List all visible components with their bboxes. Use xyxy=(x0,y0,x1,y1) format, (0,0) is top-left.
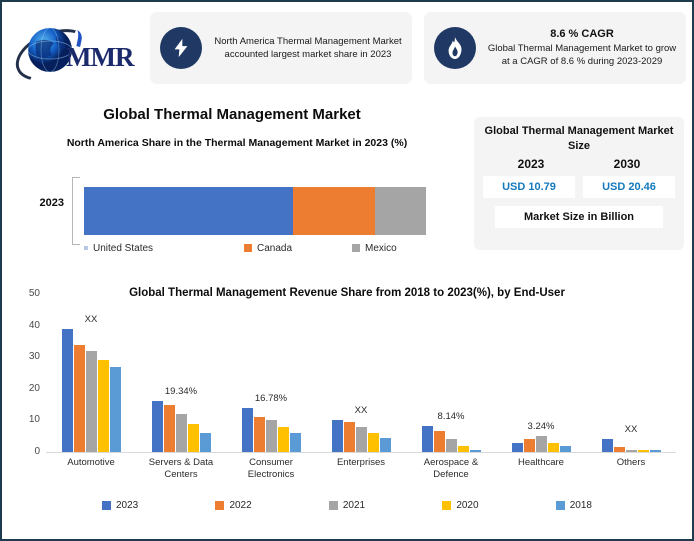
bar xyxy=(152,401,163,452)
chart-legend: 20232022202120202018 xyxy=(102,497,592,513)
gridline xyxy=(46,294,676,295)
legend-swatch xyxy=(215,501,224,510)
bar xyxy=(422,426,433,452)
bar-group: 8.14% xyxy=(406,294,496,452)
bar-annotation: XX xyxy=(586,424,676,435)
bar xyxy=(254,417,265,452)
brand-name: MMR xyxy=(66,42,133,73)
lightning-bolt-icon xyxy=(160,27,202,69)
legend-item: Mexico xyxy=(352,243,397,254)
bar-set xyxy=(316,294,406,452)
bar-set xyxy=(136,294,226,452)
stacked-axis xyxy=(72,177,80,245)
market-size-panel: Global Thermal Management Market Size 20… xyxy=(474,117,684,250)
legend-label: Mexico xyxy=(365,243,397,254)
bar xyxy=(524,439,535,452)
bar-set xyxy=(226,294,316,452)
stacked-bar xyxy=(84,187,426,235)
y-axis-tick: 50 xyxy=(4,288,40,299)
stacked-category-label: 2023 xyxy=(22,197,64,209)
market-size-title: Global Thermal Management Market Size xyxy=(483,124,675,154)
x-axis-label: Automotive xyxy=(46,457,136,487)
bar-set xyxy=(406,294,496,452)
market-size-unit: Market Size in Billion xyxy=(495,206,663,228)
legend-item: 2020 xyxy=(442,500,478,511)
legend-item: 2022 xyxy=(215,500,251,511)
bar xyxy=(512,443,523,452)
gridline xyxy=(46,326,676,327)
legend-item: Canada xyxy=(244,243,292,254)
bar xyxy=(356,427,367,452)
legend-swatch xyxy=(102,501,111,510)
bar xyxy=(98,360,109,452)
bar-groups: XX19.34%16.78%XX8.14%3.24%XX xyxy=(46,294,676,452)
bar xyxy=(62,329,73,452)
y-axis-tick: 30 xyxy=(4,351,40,362)
gridline xyxy=(46,389,676,390)
bar xyxy=(74,345,85,452)
legend-label: 2018 xyxy=(570,500,592,511)
legend-label: 2020 xyxy=(456,500,478,511)
bar xyxy=(266,420,277,452)
header-badge-north-america: North America Thermal Management Market … xyxy=(150,12,412,84)
legend-label: United States xyxy=(93,243,153,254)
gridline xyxy=(46,420,676,421)
legend-swatch xyxy=(442,501,451,510)
legend-label: 2023 xyxy=(116,500,138,511)
legend-swatch xyxy=(244,244,252,252)
legend-item: 2021 xyxy=(329,500,365,511)
legend-swatch xyxy=(556,501,565,510)
bar xyxy=(290,433,301,452)
mmr-logo: MMR xyxy=(12,12,144,84)
bar xyxy=(332,420,343,452)
badge-text: Global Thermal Management Market to grow… xyxy=(484,42,680,68)
bar-group: 16.78% xyxy=(226,294,316,452)
bar xyxy=(242,408,253,452)
bar xyxy=(446,439,457,452)
market-size-value-2023: USD 10.79 xyxy=(483,176,575,198)
gridline xyxy=(46,452,676,453)
legend-item: 2018 xyxy=(556,500,592,511)
bar-group: XX xyxy=(316,294,406,452)
flame-icon xyxy=(434,27,476,69)
bar-annotation: XX xyxy=(316,405,406,416)
market-size-year-2023: 2023 xyxy=(483,157,579,171)
bar xyxy=(278,427,289,452)
legend-swatch xyxy=(84,246,88,250)
x-axis-label: Others xyxy=(586,457,676,487)
y-axis-tick: 10 xyxy=(4,414,40,425)
bar xyxy=(86,351,97,452)
infographic-page: MMR North America Thermal Management Mar… xyxy=(0,0,694,541)
badge-title: 8.6 % CAGR xyxy=(484,28,680,40)
legend-item: United States xyxy=(84,243,153,254)
legend-swatch xyxy=(329,501,338,510)
bar xyxy=(368,433,379,452)
header: MMR North America Thermal Management Mar… xyxy=(2,2,692,94)
bar xyxy=(434,431,445,452)
plot-area: XX19.34%16.78%XX8.14%3.24%XX 01020304050 xyxy=(46,294,676,452)
bar xyxy=(200,433,211,452)
legend-label: 2022 xyxy=(229,500,251,511)
bar xyxy=(380,438,391,452)
market-size-value-2030: USD 20.46 xyxy=(583,176,675,198)
header-badge-cagr: 8.6 % CAGR Global Thermal Management Mar… xyxy=(424,12,686,84)
stacked-segment xyxy=(293,187,375,235)
bar xyxy=(548,443,559,452)
badge-text: North America Thermal Management Market … xyxy=(210,35,406,61)
bar-annotation: 3.24% xyxy=(496,421,586,432)
x-axis-labels: AutomotiveServers & Data CentersConsumer… xyxy=(46,457,676,487)
y-axis-tick: 0 xyxy=(4,446,40,457)
stacked-segment xyxy=(375,187,426,235)
bar-group: 3.24% xyxy=(496,294,586,452)
bar-annotation: XX xyxy=(46,314,136,325)
bar xyxy=(602,439,613,452)
legend-swatch xyxy=(352,244,360,252)
legend-label: 2021 xyxy=(343,500,365,511)
stacked-segment xyxy=(84,187,293,235)
market-size-year-2030: 2030 xyxy=(579,157,675,171)
bar xyxy=(188,424,199,452)
y-axis-tick: 40 xyxy=(4,320,40,331)
x-axis-label: Aerospace & Defence xyxy=(406,457,496,487)
bar xyxy=(536,436,547,452)
stacked-chart-title: North America Share in the Thermal Manag… xyxy=(42,136,432,151)
stacked-legend: United StatesCanadaMexico xyxy=(84,240,434,256)
bar-group: XX xyxy=(586,294,676,452)
north-america-share-chart: 2023 United StatesCanadaMexico xyxy=(2,177,462,252)
bar xyxy=(110,367,121,452)
legend-label: Canada xyxy=(257,243,292,254)
gridline xyxy=(46,357,676,358)
bar-group: 19.34% xyxy=(136,294,226,452)
end-user-revenue-chart: Global Thermal Management Revenue Share … xyxy=(2,285,692,540)
page-title: Global Thermal Management Market xyxy=(2,106,462,123)
bar-annotation: 16.78% xyxy=(226,393,316,404)
legend-item: 2023 xyxy=(102,500,138,511)
x-axis-label: Servers & Data Centers xyxy=(136,457,226,487)
bar-group: XX xyxy=(46,294,136,452)
y-axis-tick: 20 xyxy=(4,383,40,394)
x-axis-label: Enterprises xyxy=(316,457,406,487)
x-axis-label: Healthcare xyxy=(496,457,586,487)
bar xyxy=(164,405,175,452)
x-axis-label: Consumer Electronics xyxy=(226,457,316,487)
bar xyxy=(344,422,355,452)
